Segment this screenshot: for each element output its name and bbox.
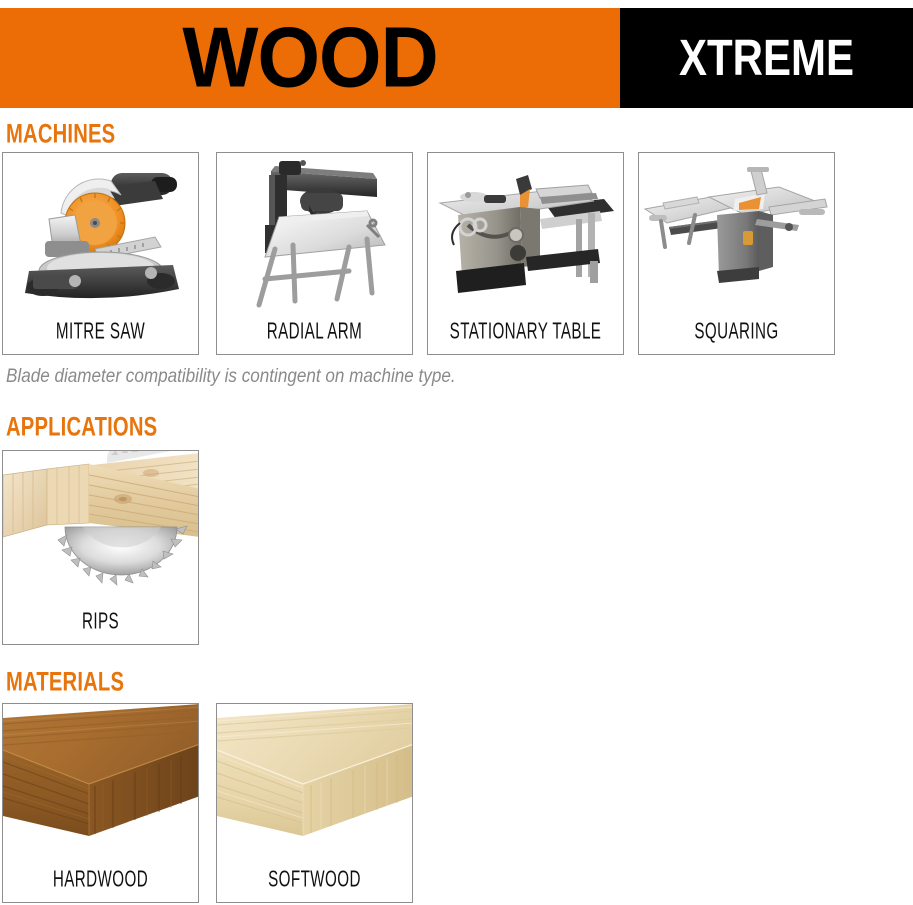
machine-card-label: MITRE SAW [23,319,179,346]
hardwood-block-photo [3,704,198,866]
material-card-label: HARDWOOD [23,867,179,894]
machine-card-mitre-saw[interactable]: MITRE SAW [2,152,199,355]
squaring-saw-photo [639,153,834,319]
machine-card-radial-arm[interactable]: RADIAL ARM [216,152,413,355]
section-heading-materials: MATERIALS [6,668,124,695]
material-card-label: SOFTWOOD [237,867,393,894]
machines-note: Blade diameter compatibility is continge… [6,366,456,388]
machine-card-stationary-table[interactable]: STATIONARY TABLE [427,152,624,355]
product-line-badge: XTREME [679,32,854,83]
softwood-block-photo [217,704,412,866]
machine-card-label: RADIAL ARM [237,319,393,346]
material-card-softwood[interactable]: SOFTWOOD [216,703,413,903]
application-card-label: RIPS [23,609,179,636]
machine-card-label: STATIONARY TABLE [448,319,604,346]
radial-arm-saw-photo [217,153,412,319]
banner-subtitle-panel: XTREME [620,8,913,108]
machine-card-squaring[interactable]: SQUARING [638,152,835,355]
rip-cut-photo [3,451,198,609]
material-card-hardwood[interactable]: HARDWOOD [2,703,199,903]
page-title: WOOD [182,16,437,101]
section-heading-applications: APPLICATIONS [6,413,157,440]
section-heading-machines: MACHINES [6,120,115,147]
banner-title-panel: WOOD [0,8,620,108]
header-banner: WOOD XTREME [0,8,913,108]
application-card-rips[interactable]: RIPS [2,450,199,645]
stationary-table-saw-photo [428,153,623,319]
machine-card-label: SQUARING [659,319,815,346]
mitre-saw-photo [3,153,198,319]
